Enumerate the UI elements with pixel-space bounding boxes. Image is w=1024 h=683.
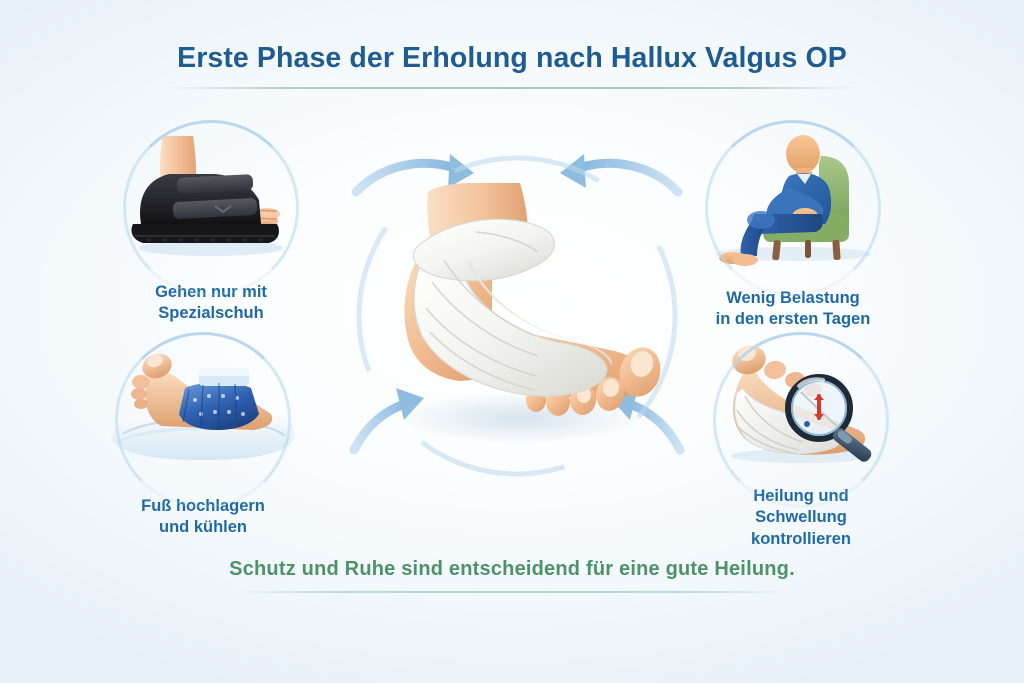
center-illustration [352, 150, 682, 480]
circle-frame [123, 120, 299, 296]
arrow-top-right [560, 154, 678, 192]
bandaged-foot-illustration [352, 150, 682, 480]
circle-frame [115, 332, 291, 508]
footer: Schutz und Ruhe sind entscheidend für ei… [0, 558, 1024, 593]
label-line-2: Schwellung [755, 508, 847, 526]
node-art-shoe [111, 118, 311, 268]
footer-divider [232, 591, 792, 593]
label-line-2: und kühlen [159, 518, 247, 536]
node-art-ice [103, 330, 303, 480]
node-art-check [701, 330, 901, 480]
node-art-rest [693, 118, 893, 268]
label-line-3: kontrollieren [751, 530, 851, 548]
infographic-canvas: Erste Phase der Erholung nach Hallux Val… [0, 0, 1024, 683]
node-walking-shoe[interactable]: Gehen nur mit Spezialschuh [96, 118, 326, 325]
label-line-2: Spezialschuh [158, 304, 263, 322]
page-title: Erste Phase der Erholung nach Hallux Val… [0, 42, 1024, 75]
node-low-weight-bearing[interactable]: Wenig Belastung in den ersten Tagen [678, 118, 908, 331]
title-divider [167, 87, 857, 89]
node-elevate-and-cool[interactable]: Fuß hochlagern und kühlen [88, 330, 318, 539]
circle-frame [713, 332, 889, 508]
node-monitor-healing[interactable]: Heilung und Schwellung kontrollieren [686, 330, 916, 550]
header: Erste Phase der Erholung nach Hallux Val… [0, 42, 1024, 89]
label-line-2: in den ersten Tagen [716, 310, 871, 328]
circle-frame [705, 120, 881, 296]
footer-message: Schutz und Ruhe sind entscheidend für ei… [0, 558, 1024, 581]
